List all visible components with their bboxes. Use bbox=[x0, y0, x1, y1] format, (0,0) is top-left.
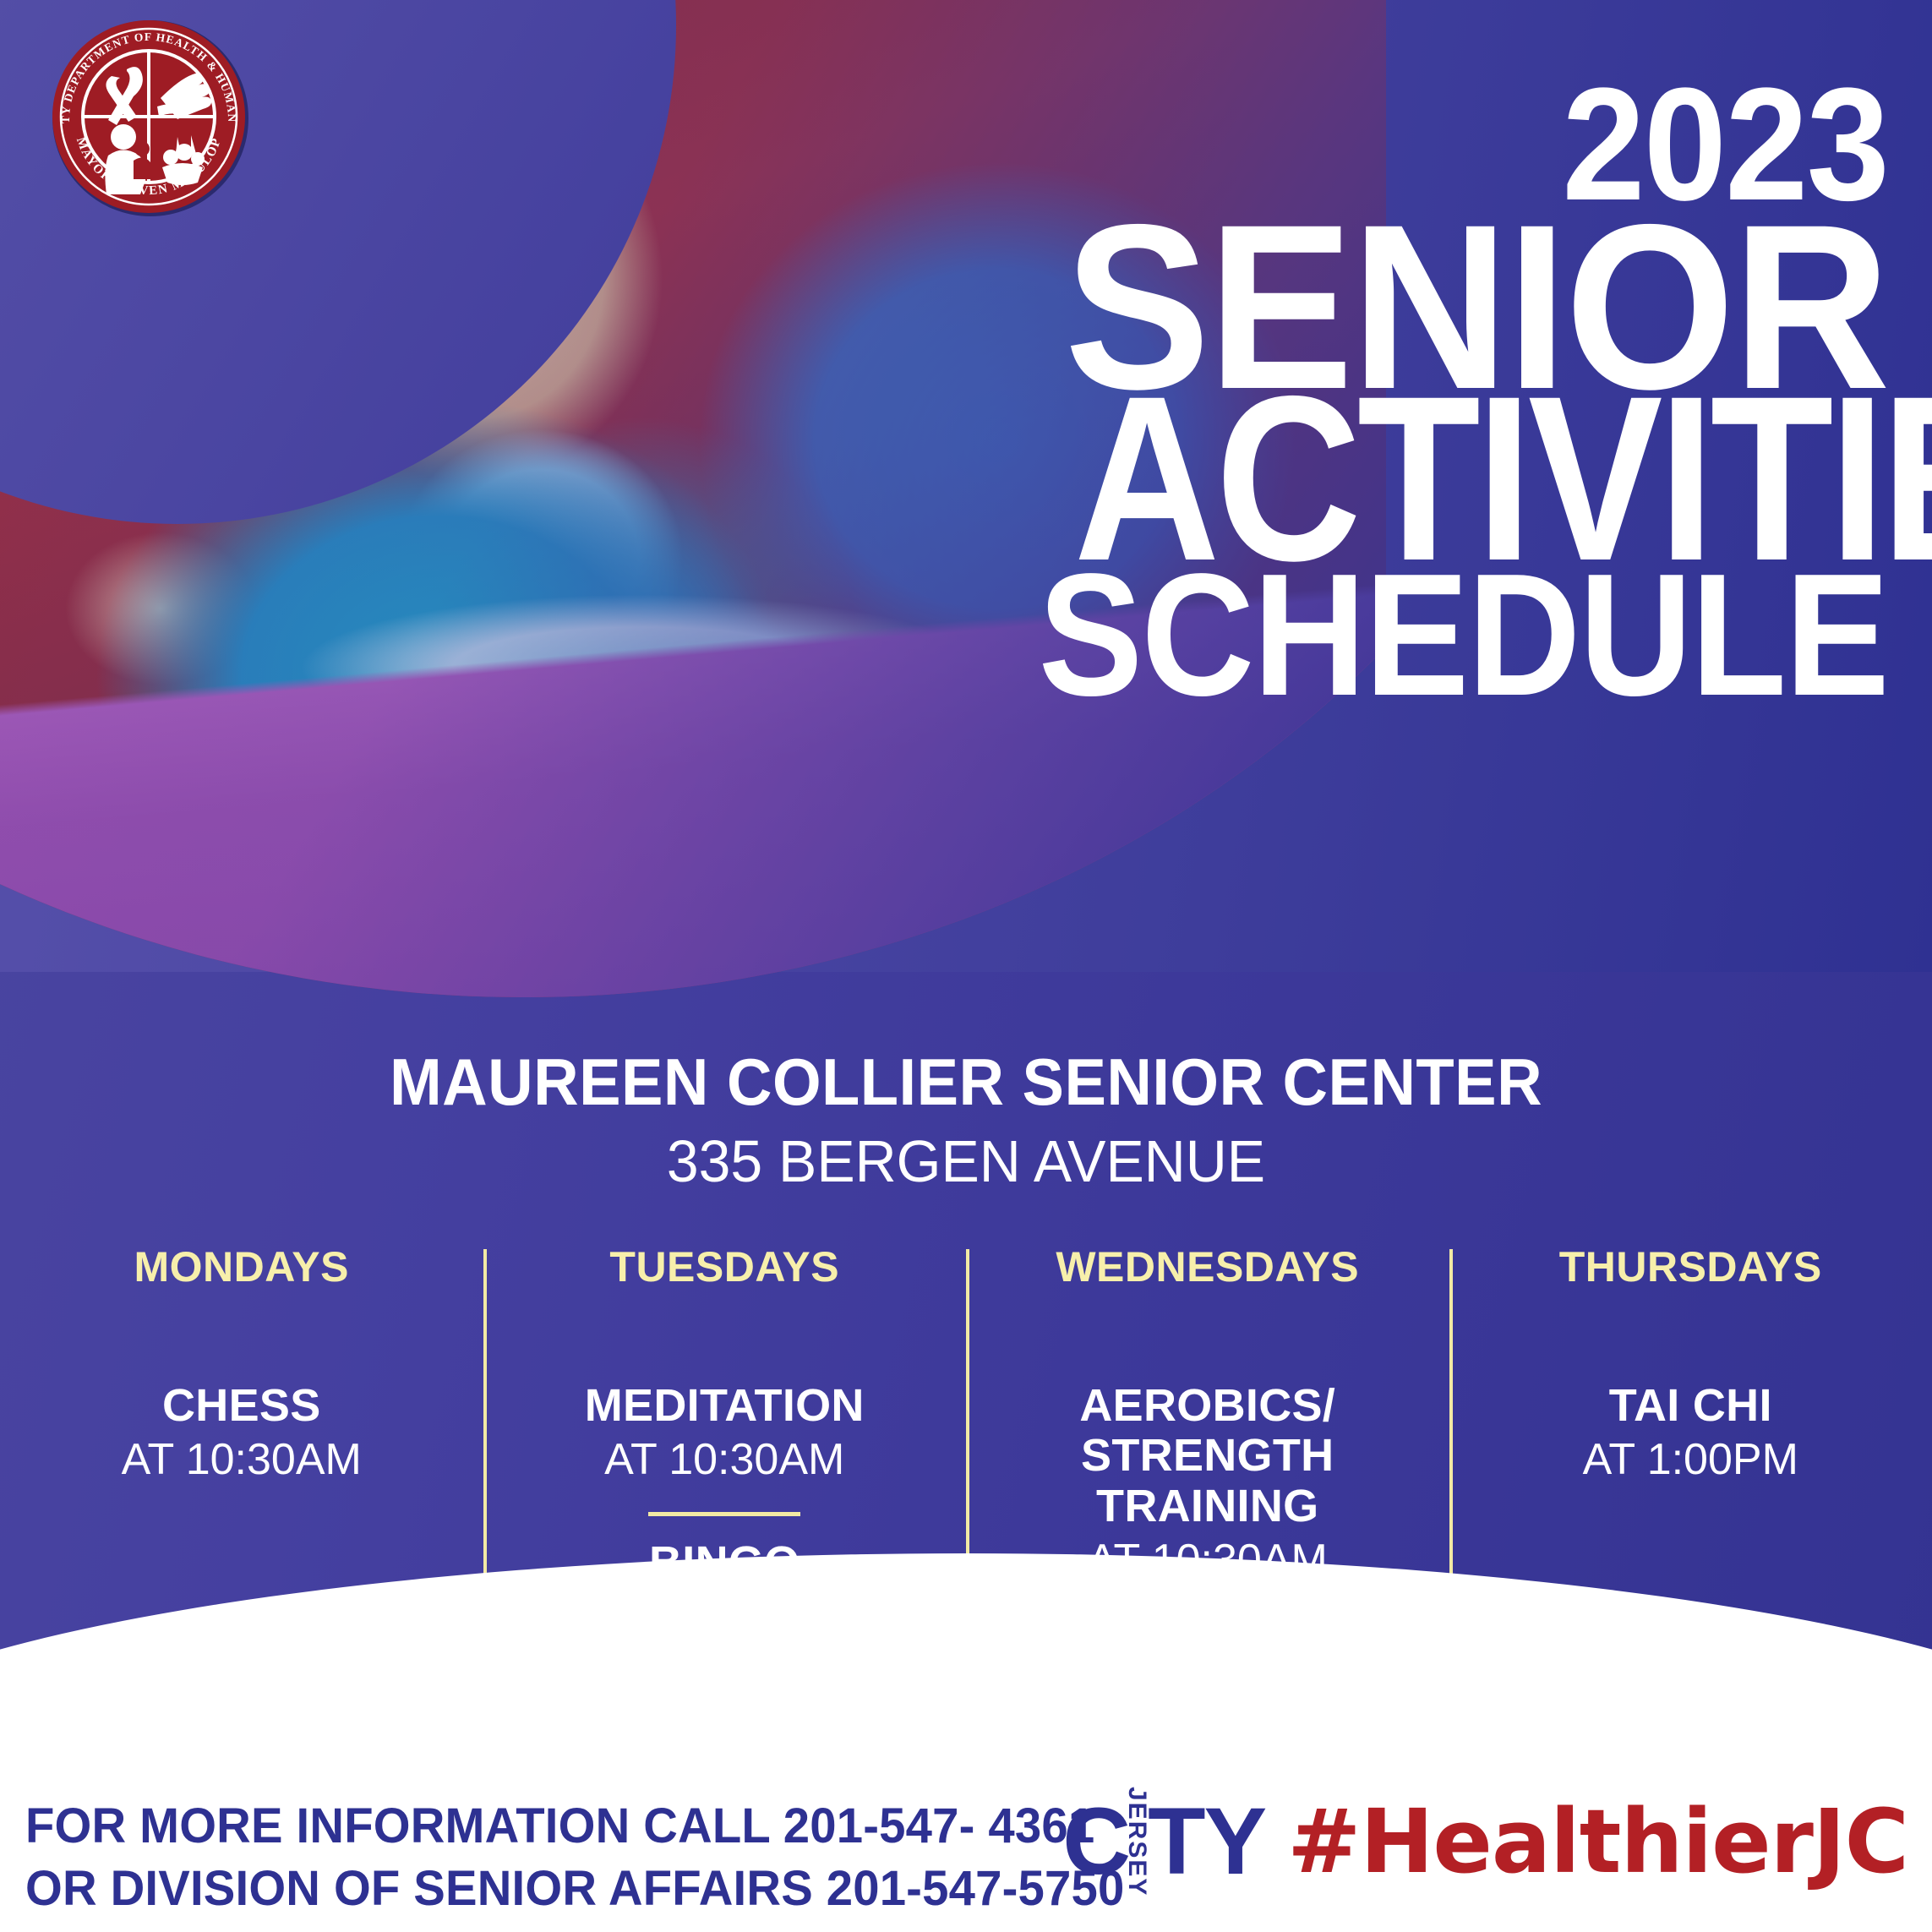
contact-line-1: FOR MORE INFORMATION CALL 201-547- 4361 bbox=[25, 1795, 1124, 1858]
activity-item: MEDITATION AT 10:30AM bbox=[505, 1381, 945, 1487]
venue-name: MAUREEN COLLIER SENIOR CENTER bbox=[48, 1044, 1884, 1121]
day-header-tuesdays: TUESDAYS bbox=[505, 1242, 945, 1291]
logo-letters-ty: TY bbox=[1148, 1794, 1265, 1889]
activity-separator bbox=[648, 1512, 800, 1516]
activity-name: AEROBICS/ STRENGTH TRAINING bbox=[988, 1381, 1427, 1531]
hashtag-healthierjc: #HealthierJC bbox=[1287, 1798, 1908, 1886]
activity-item: TAI CHI AT 1:00PM bbox=[1471, 1381, 1911, 1487]
activity-name: CHESS bbox=[22, 1381, 461, 1431]
headline-block: 2023 SENIOR ACTIVITIES SCHEDULE bbox=[941, 78, 1888, 708]
activity-item: CHESS AT 10:30AM bbox=[22, 1381, 461, 1487]
activity-time: AT 10:30AM bbox=[505, 1434, 945, 1486]
venue-address: 335 BERGEN AVENUE bbox=[29, 1127, 1902, 1195]
activity-name: MEDITATION bbox=[505, 1381, 945, 1431]
poster-canvas: JERSEY CITY DEPARTMENT OF HEALTH & HUMAN… bbox=[0, 0, 1932, 1932]
jersey-city-logo: C JERSEY TY bbox=[1062, 1787, 1265, 1897]
logo-vertical-jersey: JERSEY bbox=[1124, 1787, 1149, 1897]
headline-schedule: SCHEDULE bbox=[1036, 562, 1888, 708]
venue-block: MAUREEN COLLIER SENIOR CENTER 335 BERGEN… bbox=[0, 1044, 1932, 1195]
activity-time: AT 1:00PM bbox=[1471, 1434, 1911, 1486]
jersey-city-health-seal-icon: JERSEY CITY DEPARTMENT OF HEALTH & HUMAN… bbox=[49, 17, 252, 220]
footer: FOR MORE INFORMATION CALL 201-547- 4361 … bbox=[0, 1783, 1932, 1932]
logo-letter-c: C bbox=[1062, 1794, 1129, 1889]
contact-line-2: OR DIVISION OF SENIOR AFFAIRS 201-547-57… bbox=[25, 1858, 1124, 1920]
activity-time: AT 10:30AM bbox=[22, 1434, 461, 1486]
brand-lockup: C JERSEY TY #HealthierJC bbox=[1062, 1792, 1908, 1891]
activity-name: TAI CHI bbox=[1471, 1381, 1911, 1431]
contact-info: FOR MORE INFORMATION CALL 201-547- 4361 … bbox=[25, 1795, 1124, 1920]
day-header-thursdays: THURSDAYS bbox=[1471, 1242, 1911, 1291]
day-header-mondays: MONDAYS bbox=[22, 1242, 461, 1291]
day-header-wednesdays: WEDNESDAYS bbox=[988, 1242, 1427, 1291]
